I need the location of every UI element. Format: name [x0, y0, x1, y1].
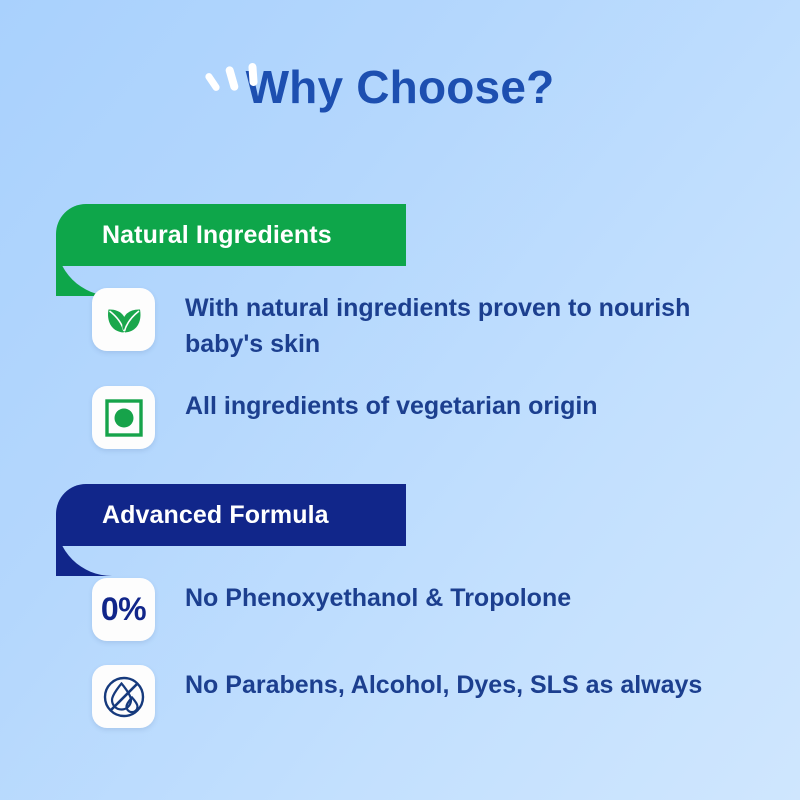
title-block: Why Choose?	[0, 64, 800, 110]
section-advanced-formula: Advanced Formula	[0, 484, 800, 546]
banner-natural-ingredients: Natural Ingredients	[56, 204, 406, 266]
banner-natural-ingredients-label: Natural Ingredients	[102, 221, 332, 250]
why-choose-poster: Why Choose? Natural Ingredients With nat…	[0, 0, 800, 800]
sparkle-marks-icon	[205, 56, 275, 96]
list-item-text: With natural ingredients proven to nouri…	[185, 288, 715, 362]
feature-list-natural: With natural ingredients proven to nouri…	[0, 288, 800, 473]
no-droplets-icon	[92, 665, 155, 728]
page-title: Why Choose?	[0, 64, 800, 110]
list-item-text: No Parabens, Alcohol, Dyes, SLS as alway…	[185, 665, 702, 704]
sparkle-line-2	[225, 65, 240, 91]
vegetarian-mark-icon	[92, 386, 155, 449]
list-item: All ingredients of vegetarian origin	[0, 386, 800, 449]
banner-advanced-formula: Advanced Formula	[56, 484, 406, 546]
list-item: No Parabens, Alcohol, Dyes, SLS as alway…	[0, 665, 800, 728]
list-item: 0% No Phenoxyethanol & Tropolone	[0, 578, 800, 641]
sparkle-line-1	[204, 72, 221, 92]
leaves-icon	[92, 288, 155, 351]
list-item-text: All ingredients of vegetarian origin	[185, 386, 598, 425]
section-natural-ingredients: Natural Ingredients	[0, 204, 800, 266]
banner-advanced-formula-label: Advanced Formula	[102, 501, 329, 530]
feature-list-advanced: 0% No Phenoxyethanol & Tropolone No Para…	[0, 578, 800, 752]
sparkle-line-3	[248, 63, 258, 87]
list-item-text: No Phenoxyethanol & Tropolone	[185, 578, 571, 617]
banner-tail	[56, 546, 112, 576]
zero-percent-icon: 0%	[92, 578, 155, 641]
list-item: With natural ingredients proven to nouri…	[0, 288, 800, 362]
zero-percent-label: 0%	[101, 591, 146, 628]
